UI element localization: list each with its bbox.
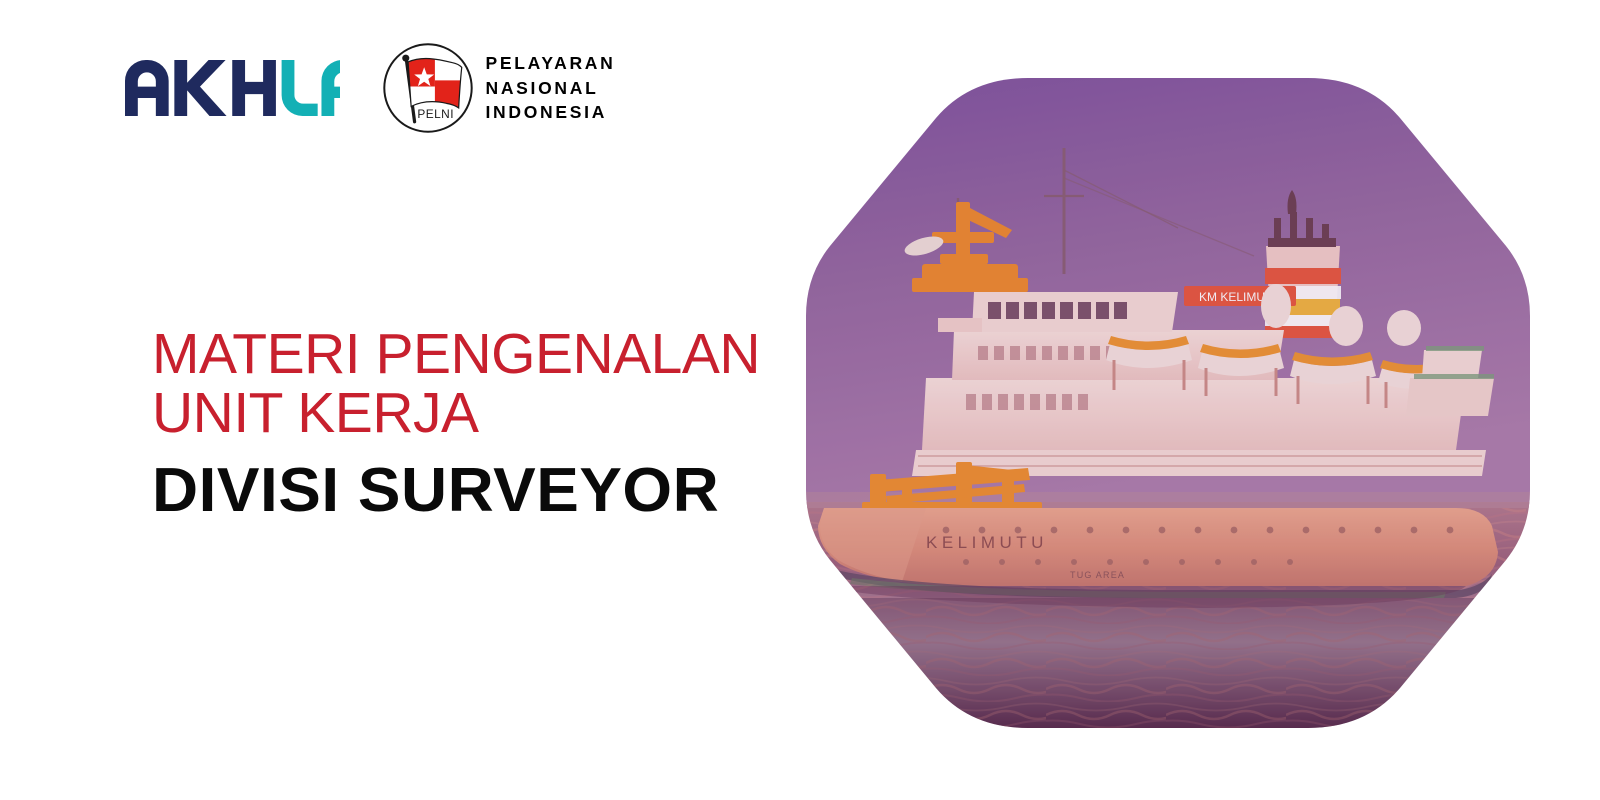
pelni-wordmark-line-1: PELAYARAN: [486, 51, 616, 76]
title-block: MATERI PENGENALAN UNIT KERJA DIVISI SURV…: [152, 325, 852, 523]
pelni-mark-label: PELNI: [417, 107, 454, 121]
slide-canvas: PELNI PELAYARAN NASIONAL INDONESIA MATER…: [0, 0, 1600, 800]
pelni-wordmark: PELAYARAN NASIONAL INDONESIA: [486, 51, 616, 126]
akhlak-logo: [125, 60, 340, 116]
pelni-wordmark-line-2: NASIONAL: [486, 76, 616, 101]
akhlak-teal-letters: [282, 60, 340, 116]
hero-photo-content: KM KELIMUTU: [806, 78, 1530, 728]
pelni-logo-lockup: PELNI PELAYARAN NASIONAL INDONESIA: [382, 42, 616, 134]
pelni-flag-icon: PELNI: [382, 42, 474, 134]
photo-duotone-overlay: [806, 78, 1530, 728]
logo-bar: PELNI PELAYARAN NASIONAL INDONESIA: [125, 42, 615, 134]
slide-title-secondary: DIVISI SURVEYOR: [152, 458, 873, 523]
pelni-wordmark-line-3: INDONESIA: [486, 100, 616, 125]
slide-title-primary: MATERI PENGENALAN UNIT KERJA: [152, 325, 852, 444]
hero-image-hexagon: KM KELIMUTU: [806, 78, 1530, 728]
akhlak-dark-letters: [125, 60, 276, 116]
pelni-pole-finial: [402, 55, 409, 62]
